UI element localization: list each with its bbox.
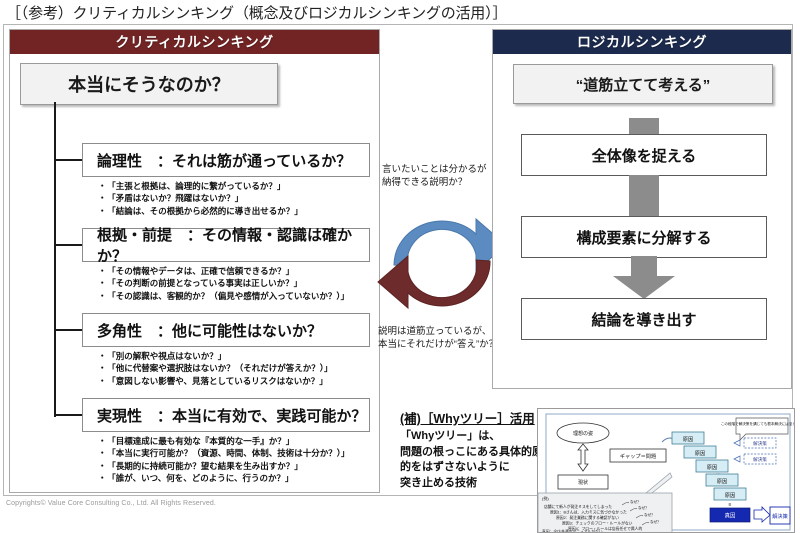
logical-thinking-header: ロジカルシンキング [493, 30, 791, 54]
thumb-solution-label: 解決策 [772, 512, 788, 520]
thumb-gap-label: ギャップ＝問題 [620, 453, 656, 460]
list-item: 「結論は、その根拠から必然的に導き出せるか？」 [98, 205, 378, 217]
logical-concept-box: “道筋立てて考える” [513, 64, 773, 104]
thumb-solution-label: 解決策 [753, 440, 767, 447]
list-item: 「本当に実行可能か？（資源、時間、体制、技術は十分か？）」 [98, 447, 378, 459]
cycle-arrows-icon [372, 205, 512, 320]
why-tree-thumbnail[interactable]: 理想の姿 現状 ギャップ＝問題 原因 原因 原因 原因 原因 [537, 408, 795, 533]
logical-step-box: 構成要素に分解する [521, 216, 767, 258]
thumb-solution-label: 解決策 [753, 456, 767, 463]
note-logical-to-critical: 説明は道筋立っているが、 本当にそれだけが“答え”か？ [378, 325, 498, 351]
thumb-cause-label: 原因 [717, 478, 727, 485]
critical-branch-bullets: 「別の解釈や視点はないか？」 「他に代替案や選択肢はないか？（それだけが答えか？… [98, 350, 378, 387]
note-critical-to-logical: 言いたいことは分かるが 納得できる説明か？ [382, 163, 487, 189]
why-tree-title: (補)［Whyツリー］活用 [400, 408, 535, 427]
logical-step-box: 全体像を捉える [521, 134, 767, 176]
critical-branch-bullets: 「目標達成に最も有効な『本質的な一手』か？」 「本当に実行可能か？（資源、時間、… [98, 435, 378, 485]
list-item: 「別の解釈や視点はないか？」 [98, 350, 378, 362]
thumb-example-line: 原因2：発注業務に関する確認がない [556, 515, 619, 520]
tree-branch-connector [54, 329, 84, 331]
tree-trunk [54, 102, 56, 417]
critical-branch-bullets: 「主張と根拠は、論理的に繋がっているか？」 「矛盾はないか？飛躍はないか？」 「… [98, 180, 378, 217]
critical-branch-title: 実現性 ：本当に有効で、実践可能か？ [82, 398, 370, 432]
list-item: 「目標達成に最も有効な『本質的な一手』か？」 [98, 435, 378, 447]
why-tree-diagram: 理想の姿 現状 ギャップ＝問題 原因 原因 原因 原因 原因 [538, 409, 795, 533]
critical-branch-title: 根拠・前提 ：その情報・認識は確かか？ [82, 228, 370, 262]
critical-branch-title: 論理性 ：それは筋が通っているか？ [82, 143, 370, 177]
tree-branch-connector [54, 414, 84, 416]
logical-thinking-panel: ロジカルシンキング “道筋立てて考える” 全体像を捉える 構成要素に分解する 結… [492, 29, 792, 389]
thumb-why-label: なぜ？ [638, 505, 649, 510]
list-item: 「その情報やデータは、正確で信頼できるか？」 [98, 265, 378, 277]
thumb-example-rootcause: 真因：全店共通のマニュアルがない [542, 529, 603, 533]
critical-thinking-header: クリティカルシンキング [10, 30, 379, 54]
thumb-cause-label: 原因 [707, 464, 717, 471]
tree-branch-connector [54, 244, 84, 246]
thumb-cause-label: 原因 [695, 450, 705, 457]
thumb-cause-label: 原因 [683, 436, 693, 443]
flow-connector [629, 175, 659, 217]
list-item: 「誰が、いつ、何を、どのように、行うのか？」 [98, 472, 378, 484]
page-title: ［（参考）クリティカルシンキング（概念及びロジカルシンキングの活用）］ [6, 2, 706, 24]
critical-root-box: 本当にそうなのか？ [20, 63, 278, 105]
thumb-example-line: 店舗にて新人が発注ミスをしてしまった [544, 504, 612, 509]
thumb-example-line: 原因3：チェックのフロー・ルールがない [562, 521, 633, 526]
thumb-why-label: なぜ？ [644, 512, 655, 517]
list-item: 「矛盾はないか？飛躍はないか？」 [98, 192, 378, 204]
thumb-example-title: (例) [542, 495, 549, 501]
tree-branch-connector [54, 159, 84, 161]
note-line: 言いたいことは分かるが [382, 163, 487, 176]
down-arrow-icon [609, 256, 679, 300]
thumb-ideal-label: 理想の姿 [573, 430, 593, 437]
note-line: 納得できる説明か？ [382, 176, 487, 189]
list-item: 「長期的に持続可能か？望む結果を生み出すか？」 [98, 460, 378, 472]
slide-frame: クリティカルシンキング 本当にそうなのか？ 論理性 ：それは筋が通っているか？ … [3, 24, 793, 496]
critical-branch-title: 多角性 ：他に可能性はないか？ [82, 313, 370, 347]
thumb-why-label: なぜ？ [630, 499, 641, 504]
note-line: 本当にそれだけが“答え”か？ [378, 338, 498, 351]
footer-copyright: Copyrights© Value Core Consulting Co., L… [6, 500, 216, 507]
list-item: 「主張と根拠は、論理的に繋がっているか？」 [98, 180, 378, 192]
thumb-callout: この段階で解決策を講じても根本解決には至らない [721, 421, 795, 426]
thumb-root-cause-label: 真因 [725, 512, 736, 520]
list-item: 「意図しない影響や、見落としているリスクはないか？」 [98, 375, 378, 387]
list-item: 「他に代替案や選択肢はないか？（それだけが答えか？）」 [98, 362, 378, 374]
thumb-cause-label: 原因 [725, 492, 735, 499]
note-line: 説明は道筋立っているが、 [378, 325, 498, 338]
logical-step-box: 結論を導き出す [521, 298, 767, 340]
critical-branch-bullets: 「その情報やデータは、正確で信頼できるか？」 「その判断の前提となっている事実は… [98, 265, 378, 302]
thumb-example-line: 原因1：Bさんは、入力ミスに気づかなかった [550, 510, 627, 515]
equals-sign: ≡ [729, 502, 732, 508]
critical-thinking-panel: クリティカルシンキング 本当にそうなのか？ 論理性 ：それは筋が通っているか？ … [9, 29, 380, 493]
list-item: 「その判断の前提となっている事実は正しいか？」 [98, 277, 378, 289]
list-item: 「その認識は、客観的か？（偏見や感情が入っていないか？）」 [98, 290, 378, 302]
thumb-current-label: 現状 [578, 479, 588, 486]
